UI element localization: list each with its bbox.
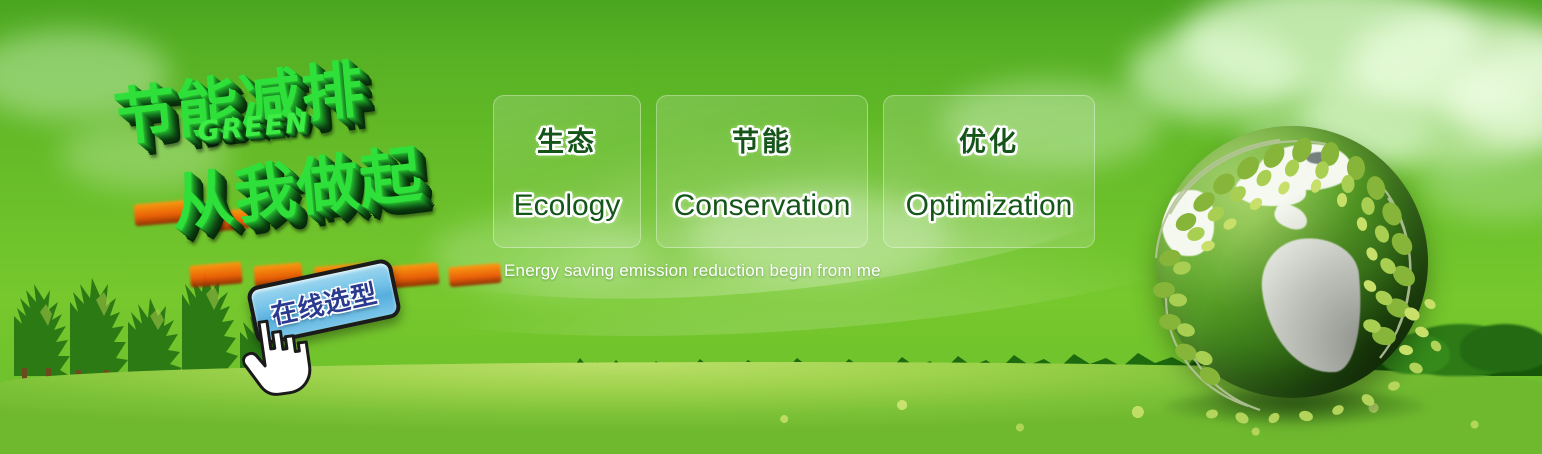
feature-card-optimization[interactable]: 优化 Optimization (883, 95, 1095, 248)
feature-card-conservation[interactable]: 节能 Conservation (656, 95, 868, 248)
feature-card-en-label: Ecology (514, 189, 621, 223)
feature-card-cn-label: 节能 (732, 120, 792, 159)
cta-button-surface[interactable]: 在线选型 (245, 257, 402, 346)
feature-card-cn-label: 生态 (537, 120, 597, 159)
globe-shading (1156, 126, 1428, 398)
feature-card-en-label: Conservation (674, 189, 851, 223)
ember-glow (189, 261, 243, 287)
green-energy-banner: 节能减排 GREEN 从我做起 在线选型 生态 Ecology 节能 Conse… (0, 0, 1542, 454)
headline-3d-text: 节能减排 GREEN 从我做起 (99, 26, 498, 288)
online-selection-button[interactable]: 在线选型 (245, 257, 402, 346)
cta-button-label: 在线选型 (267, 273, 380, 332)
banner-tagline: Energy saving emission reduction begin f… (504, 261, 881, 281)
leafy-green-globe-icon (1130, 118, 1450, 438)
ember-glow (134, 199, 194, 226)
cloud-icon (1350, 10, 1542, 115)
headline-line-2: 从我做起 (167, 123, 425, 243)
headline-line-1: 节能减排 (110, 38, 368, 158)
bush-icon (1460, 324, 1542, 372)
ember-glow (202, 209, 250, 233)
globe-sphere (1156, 126, 1428, 398)
feature-card-cn-label: 优化 (959, 120, 1019, 159)
cloud-icon (1450, 40, 1542, 150)
cloud-icon (1128, 28, 1298, 120)
cloud-icon (60, 120, 230, 190)
feature-card-group: 生态 Ecology 节能 Conservation 优化 Optimizati… (493, 95, 1095, 248)
cloud-icon (1180, 0, 1480, 102)
headline-green-word: GREEN (196, 107, 311, 148)
feature-card-en-label: Optimization (906, 189, 1073, 223)
feature-card-ecology[interactable]: 生态 Ecology (493, 95, 641, 248)
ember-glow (448, 263, 502, 287)
cloud-icon (0, 30, 170, 120)
